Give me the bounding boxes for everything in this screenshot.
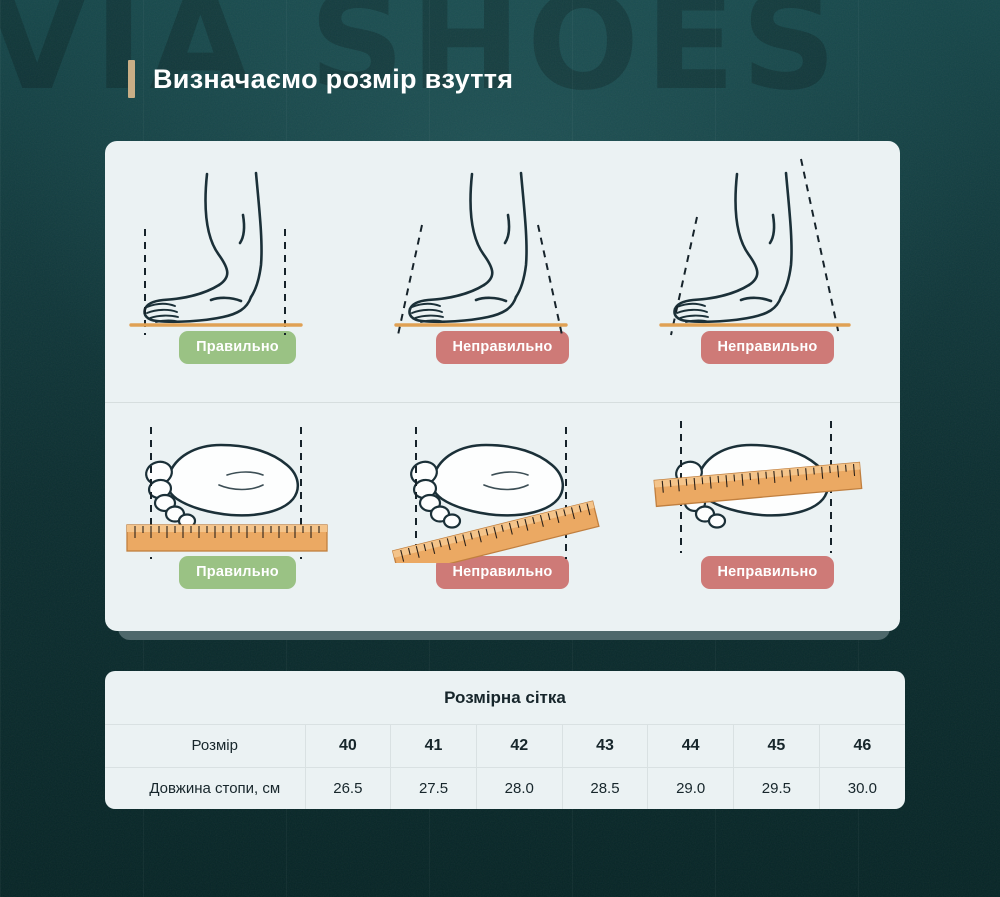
table-cell-length: 30.0 [819, 767, 905, 809]
sole-view-row: Правильно [105, 403, 900, 631]
table-cell-length: 28.5 [562, 767, 648, 809]
table-cell-length: 27.5 [391, 767, 477, 809]
illustration-cell-sole-wrong-2: Неправильно [635, 403, 900, 631]
foot-side-correct-icon [123, 157, 353, 337]
row-label-length: Довжина стопи, см [105, 767, 305, 809]
table-cell-length: 26.5 [305, 767, 391, 809]
foot-sole-ruler-correct-icon [123, 413, 353, 563]
foot-sole-ruler-across-icon [653, 413, 883, 563]
table-cell-size: 42 [476, 725, 562, 767]
foot-side-wrong-tilted-icon [653, 157, 883, 337]
table-cell-size: 43 [562, 725, 648, 767]
table-cell-size: 41 [391, 725, 477, 767]
table-cell-length: 29.0 [648, 767, 734, 809]
illustration-cell-side-wrong-1: Неправильно [370, 141, 635, 402]
side-view-row: Правильно [105, 141, 900, 402]
ruler-straight [127, 525, 327, 551]
instructions-card: Правильно [105, 141, 900, 631]
table-row-lengths: Довжина стопи, см 26.5 27.5 28.0 28.5 29… [105, 767, 905, 809]
illustration-cell-side-wrong-2: Неправильно [635, 141, 900, 402]
foot-side-wrong-splayed-icon [388, 157, 618, 337]
table-cell-size: 45 [734, 725, 820, 767]
title-accent-bar [128, 60, 135, 98]
table-cell-size: 40 [305, 725, 391, 767]
illustration-cell-sole-correct: Правильно [105, 403, 370, 631]
title-label: Визначаємо розмір взуття [153, 64, 513, 95]
table-cell-length: 29.5 [734, 767, 820, 809]
illustration-cell-side-correct: Правильно [105, 141, 370, 402]
page-title: Визначаємо розмір взуття [128, 60, 513, 98]
table-cell-length: 28.0 [476, 767, 562, 809]
row-label-size: Розмір [105, 725, 305, 767]
size-chart-table: Розмір 40 41 42 43 44 45 46 Довжина стоп… [105, 725, 905, 809]
table-cell-size: 44 [648, 725, 734, 767]
table-row-sizes: Розмір 40 41 42 43 44 45 46 [105, 725, 905, 767]
illustration-cell-sole-wrong-1: Неправильно [370, 403, 635, 631]
foot-sole-ruler-tilted-icon [388, 413, 618, 563]
table-cell-size: 46 [819, 725, 905, 767]
size-chart-card: Розмірна сітка Розмір 40 41 42 43 44 45 … [105, 671, 905, 809]
size-chart-title: Розмірна сітка [105, 671, 905, 725]
